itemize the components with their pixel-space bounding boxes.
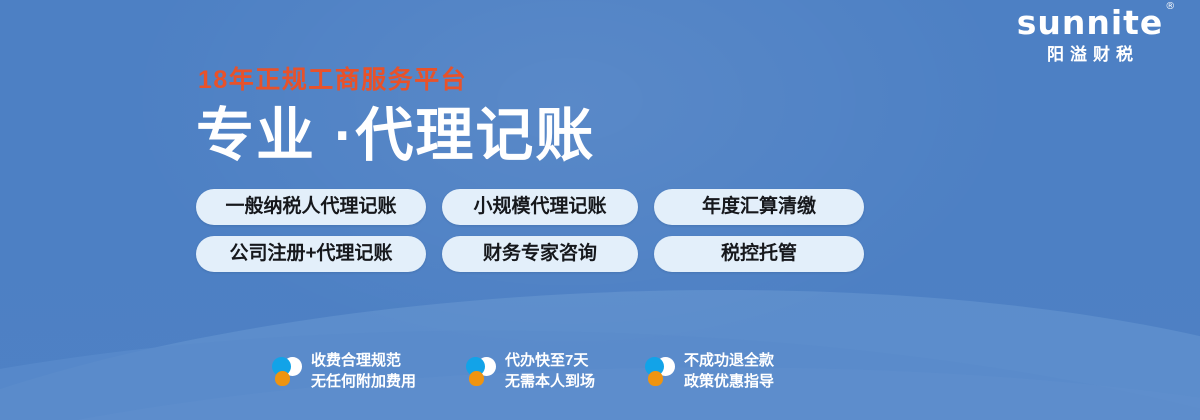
person-circle-icon bbox=[466, 355, 496, 387]
brand-wordmark-text: sunnite bbox=[1017, 3, 1164, 42]
feature-item: 代办快至7天 无需本人到场 bbox=[466, 350, 595, 393]
feature-line-2: 无需本人到场 bbox=[505, 371, 595, 392]
service-pill-row: 公司注册+代理记账 财务专家咨询 税控托管 bbox=[196, 236, 864, 272]
service-pill[interactable]: 财务专家咨询 bbox=[442, 236, 638, 272]
brand-logo[interactable]: sunnite ® 阳溢财税 bbox=[1000, 6, 1180, 63]
person-circle-icon-body bbox=[648, 371, 663, 386]
person-circle-icon-body bbox=[275, 371, 290, 386]
person-circle-icon bbox=[645, 355, 675, 387]
feature-text: 不成功退全款 政策优惠指导 bbox=[684, 350, 774, 393]
service-pill[interactable]: 税控托管 bbox=[654, 236, 864, 272]
feature-line-1: 不成功退全款 bbox=[684, 350, 774, 371]
person-circle-icon bbox=[272, 355, 302, 387]
hero-headline: 专业 ·代理记账 bbox=[196, 107, 864, 165]
feature-line-2: 政策优惠指导 bbox=[684, 371, 774, 392]
service-pill-row: 一般纳税人代理记账 小规模代理记账 年度汇算清缴 bbox=[196, 189, 864, 225]
feature-item: 收费合理规范 无任何附加费用 bbox=[272, 350, 416, 393]
service-pill[interactable]: 一般纳税人代理记账 bbox=[196, 189, 426, 225]
feature-line-1: 代办快至7天 bbox=[505, 350, 595, 371]
brand-chinese-name: 阳溢财税 bbox=[1000, 46, 1180, 63]
feature-line-2: 无任何附加费用 bbox=[311, 371, 416, 392]
person-circle-icon-body bbox=[469, 371, 484, 386]
feature-line-1: 收费合理规范 bbox=[311, 350, 416, 371]
brand-wordmark: sunnite ® bbox=[1017, 6, 1164, 39]
hero-tagline: 18年正规工商服务平台 bbox=[198, 68, 864, 93]
service-pill[interactable]: 公司注册+代理记账 bbox=[196, 236, 426, 272]
registered-trademark-icon: ® bbox=[1165, 2, 1176, 12]
service-pill[interactable]: 年度汇算清缴 bbox=[654, 189, 864, 225]
promo-banner: sunnite ® 阳溢财税 18年正规工商服务平台 专业 ·代理记账 一般纳税… bbox=[0, 0, 1200, 420]
feature-text: 收费合理规范 无任何附加费用 bbox=[311, 350, 416, 393]
feature-item: 不成功退全款 政策优惠指导 bbox=[645, 350, 774, 393]
service-pill-group: 一般纳税人代理记账 小规模代理记账 年度汇算清缴 公司注册+代理记账 财务专家咨… bbox=[196, 189, 864, 272]
feature-text: 代办快至7天 无需本人到场 bbox=[505, 350, 595, 393]
feature-list: 收费合理规范 无任何附加费用 代办快至7天 无需本人到场 不成功退全款 bbox=[272, 350, 774, 393]
hero-content: 18年正规工商服务平台 专业 ·代理记账 一般纳税人代理记账 小规模代理记账 年… bbox=[196, 68, 864, 272]
service-pill[interactable]: 小规模代理记账 bbox=[442, 189, 638, 225]
